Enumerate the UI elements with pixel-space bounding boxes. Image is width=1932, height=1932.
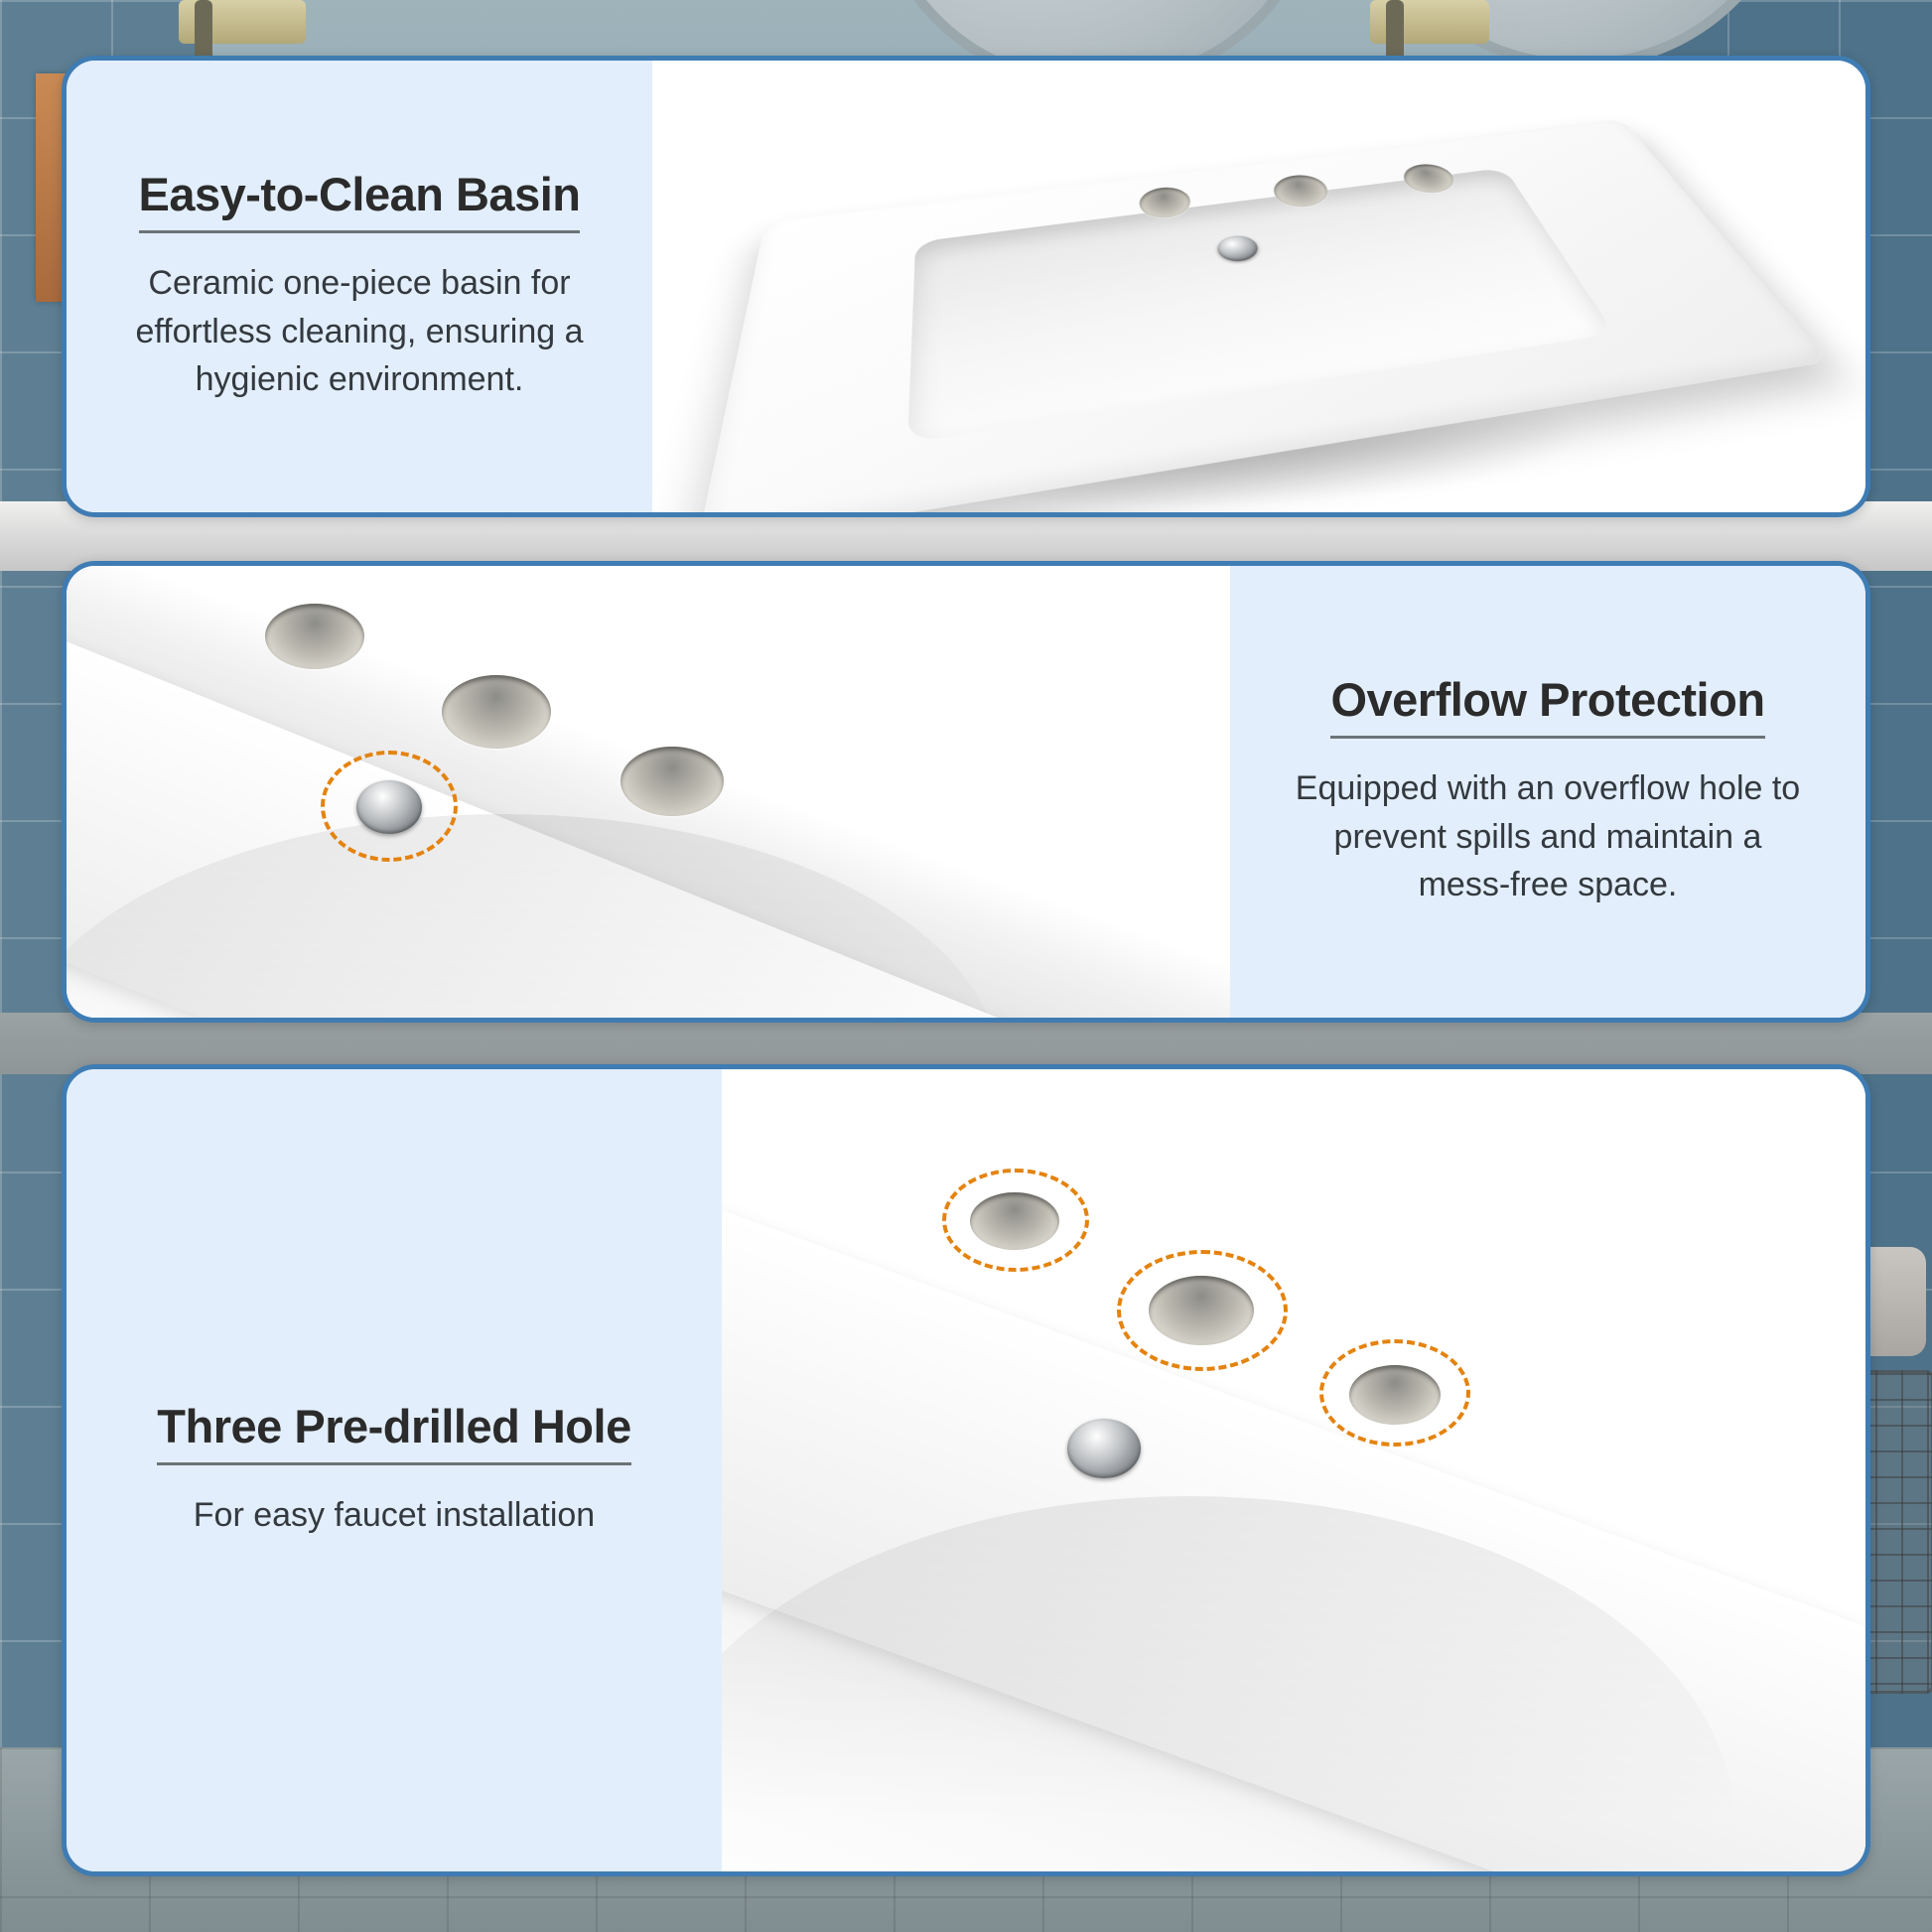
pre-drilled-hole-highlight-ring-2 <box>1117 1250 1288 1371</box>
panel-3-body: For easy faucet installation <box>194 1491 595 1539</box>
panel-2-title-underline <box>1330 736 1764 739</box>
panel-1-text-pane: Easy-to-Clean Basin Ceramic one-piece ba… <box>67 61 652 512</box>
sink-bowl <box>907 167 1614 442</box>
panel-2-title-group: Overflow Protection <box>1330 675 1764 739</box>
overflow-drain-3 <box>1067 1419 1141 1478</box>
panel-1-title-underline <box>139 230 581 233</box>
panel-1-body: Ceramic one-piece basin for effortless c… <box>126 259 593 403</box>
panel-2-text-pane: Overflow Protection Equipped with an ove… <box>1230 566 1865 1018</box>
panel-3-title-underline <box>157 1462 630 1465</box>
sink-top-illustration <box>696 118 1830 512</box>
feature-panel-overflow-protection: Overflow Protection Equipped with an ove… <box>62 561 1870 1023</box>
panel-2-image-pane <box>67 566 1230 1018</box>
faucet-hole-3 <box>621 747 724 816</box>
faucet-hole-2 <box>442 675 551 749</box>
overflow-hole-highlight-ring <box>321 751 458 862</box>
panel-3-image-pane <box>722 1069 1865 1871</box>
panel-1-image-pane <box>652 61 1865 512</box>
panel-2-title: Overflow Protection <box>1330 675 1764 724</box>
faucet-hole-1 <box>265 604 364 669</box>
panel-3-title-group: Three Pre-drilled Hole <box>157 1402 630 1465</box>
feature-panel-three-pre-drilled-hole: Three Pre-drilled Hole For easy faucet i… <box>62 1064 1870 1876</box>
panel-1-title-group: Easy-to-Clean Basin <box>139 170 581 233</box>
panel-1-title: Easy-to-Clean Basin <box>139 170 581 218</box>
wall-faucet-right-stem <box>1386 0 1404 62</box>
pre-drilled-hole-highlight-ring-1 <box>942 1169 1089 1272</box>
panel-3-title: Three Pre-drilled Hole <box>157 1402 630 1450</box>
feature-panel-easy-to-clean-basin: Easy-to-Clean Basin Ceramic one-piece ba… <box>62 56 1870 517</box>
panel-3-text-pane: Three Pre-drilled Hole For easy faucet i… <box>67 1069 722 1871</box>
pre-drilled-hole-highlight-ring-3 <box>1319 1339 1470 1447</box>
panel-2-body: Equipped with an overflow hole to preven… <box>1290 764 1806 908</box>
